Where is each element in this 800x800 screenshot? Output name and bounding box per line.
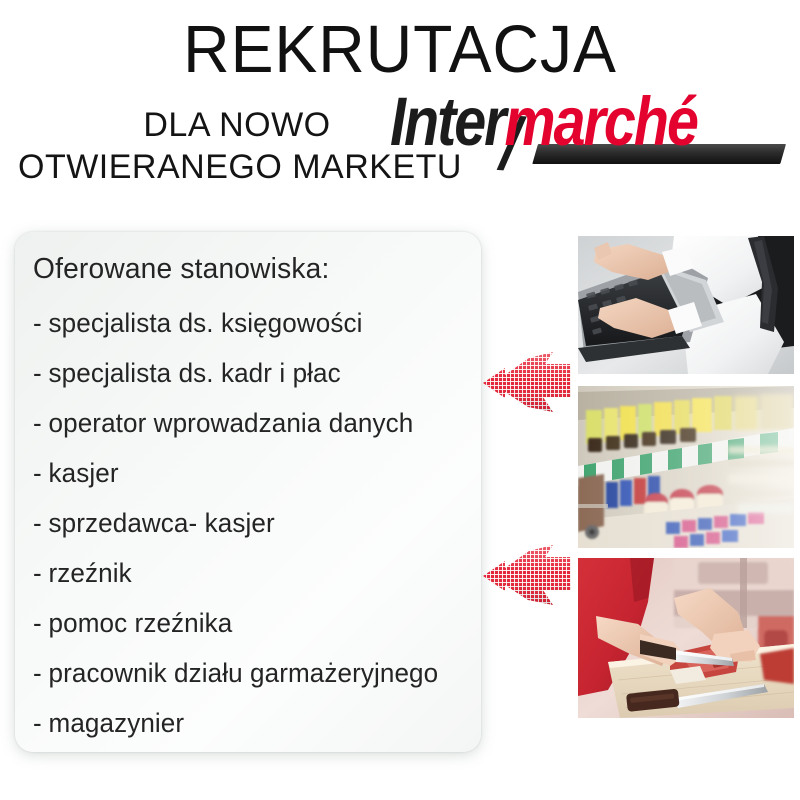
subtitle-line-2: OTWIERANEGO MARKETU — [8, 146, 448, 188]
bullet-dash: - — [33, 708, 42, 738]
photo-aisle — [578, 386, 794, 548]
photo-office — [578, 236, 794, 374]
logo-wordmark: Intermarché — [390, 86, 697, 159]
position-label: magazynier — [49, 708, 185, 738]
list-item: -operator wprowadzania danych — [33, 398, 458, 448]
bullet-dash: - — [33, 408, 42, 438]
photo-butcher-illustration — [578, 558, 794, 718]
bullet-dash: - — [33, 458, 42, 488]
arrow-left-icon — [483, 350, 573, 418]
list-item: -rzeźnik — [33, 548, 458, 598]
list-item: -kasjer — [33, 448, 458, 498]
list-item: -specjalista ds. kadr i płac — [33, 348, 458, 398]
arrow-left-icon — [483, 543, 573, 611]
position-label: specjalista ds. księgowości — [49, 308, 363, 338]
list-item: -specjalista ds. księgowości — [33, 298, 458, 348]
logo-text-marche: marché — [505, 84, 697, 161]
bullet-dash: - — [33, 558, 42, 588]
poster-header: REKRUTACJA DLA NOWO OTWIERANEGO MARKETU … — [0, 0, 800, 210]
photo-office-illustration — [578, 236, 794, 374]
photo-butcher — [578, 558, 794, 718]
offered-positions-card: Oferowane stanowiska: -specjalista ds. k… — [15, 232, 481, 752]
position-label: kasjer — [49, 458, 119, 488]
bullet-dash: - — [33, 608, 42, 638]
offer-card-heading: Oferowane stanowiska: — [33, 252, 329, 286]
bullet-dash: - — [33, 508, 42, 538]
bullet-dash: - — [33, 358, 42, 388]
list-item: -pomoc rzeźnika — [33, 598, 458, 648]
logo-text-inter: Inter — [390, 84, 505, 161]
arrow-left-mosaic-svg — [483, 350, 573, 418]
bullet-dash: - — [33, 308, 42, 338]
subtitle-block: DLA NOWO OTWIERANEGO MARKETU — [8, 104, 448, 188]
list-item: -pracownik działu garmażeryjnego — [33, 648, 458, 698]
position-label: operator wprowadzania danych — [49, 408, 414, 438]
subtitle-line-1: DLA NOWO — [8, 104, 448, 146]
position-label: sprzedawca- kasjer — [49, 508, 275, 538]
bullet-dash: - — [33, 658, 42, 688]
intermarche-logo: Intermarché — [390, 86, 790, 178]
page-title: REKRUTACJA — [16, 14, 784, 86]
list-item: -magazynier — [33, 698, 458, 748]
position-label: specjalista ds. kadr i płac — [49, 358, 341, 388]
position-label: pracownik działu garmażeryjnego — [49, 658, 439, 688]
positions-list: -specjalista ds. księgowości -specjalist… — [33, 298, 473, 748]
photo-aisle-illustration — [578, 386, 794, 548]
position-label: pomoc rzeźnika — [49, 608, 233, 638]
arrow-left-mosaic-svg — [483, 543, 573, 611]
position-label: rzeźnik — [49, 558, 132, 588]
list-item: -sprzedawca- kasjer — [33, 498, 458, 548]
photo-stack — [578, 236, 794, 718]
